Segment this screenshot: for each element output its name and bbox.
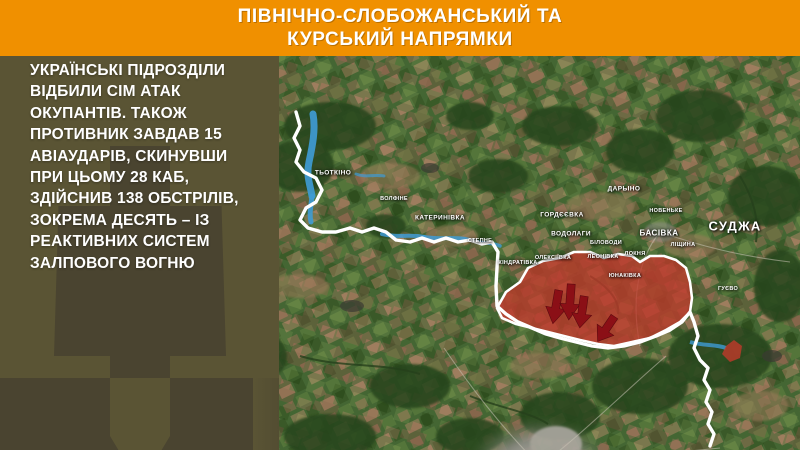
panel-text-line: ПРИ ЦЬОМУ 28 КАБ,	[30, 167, 270, 188]
panel-text-line: ЗАЛПОВОГО ВОГНЮ	[30, 253, 270, 274]
title-line-2: КУРСЬКИЙ НАПРЯМКИ	[287, 28, 513, 51]
panel-text-line: ОКУПАНТІВ. ТАКОЖ	[30, 103, 270, 124]
panel-text-line: УКРАЇНСЬКІ ПІДРОЗДІЛИ	[30, 60, 270, 81]
title-banner: ПІВНІЧНО-СЛОБОЖАНСЬКИЙ ТА КУРСЬКИЙ НАПРЯ…	[0, 0, 800, 56]
panel-text-line: ЗОКРЕМА ДЕСЯТЬ – ІЗ	[30, 210, 270, 231]
panel-text-line: РЕАКТИВНИХ СИСТЕМ	[30, 231, 270, 252]
trident-centre-cut-icon	[110, 378, 170, 436]
panel-text-line: АВІАУДАРІВ, СКИНУВШИ	[30, 146, 270, 167]
panel-body-text: УКРАЇНСЬКІ ПІДРОЗДІЛИВІДБИЛИ СІМ АТАКОКУ…	[30, 60, 270, 274]
panel-text-line: ЗДІЙСНИВ 138 ОБСТРІЛІВ,	[30, 188, 270, 209]
title-line-1: ПІВНІЧНО-СЛОБОЖАНСЬКИЙ ТА	[238, 5, 563, 28]
trident-point-icon	[110, 436, 170, 450]
summary-panel: УКРАЇНСЬКІ ПІДРОЗДІЛИВІДБИЛИ СІМ АТАКОКУ…	[0, 56, 279, 450]
panel-text-line: ПРОТИВНИК ЗАВДАВ 15	[30, 124, 270, 145]
infographic-root: ТЬОТКІНОВОЛФІНЕКАТЕРИНІВКАСТЕПНЕКІНДРАТІ…	[0, 0, 800, 450]
panel-text-line: ВІДБИЛИ СІМ АТАК	[30, 81, 270, 102]
